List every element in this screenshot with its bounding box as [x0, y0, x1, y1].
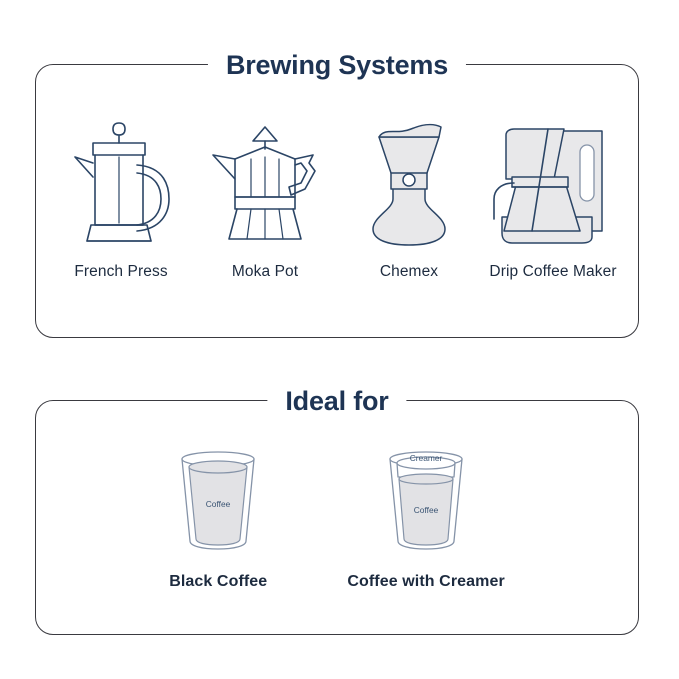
- coffee-cup-icon: Coffee: [172, 439, 264, 551]
- brewing-systems-title: Brewing Systems: [208, 46, 466, 84]
- brewing-systems-card: Brewing Systems: [35, 64, 639, 338]
- infographic-page: Brewing Systems: [0, 0, 679, 679]
- moka-pot-icon: [209, 117, 321, 247]
- brewing-item-label: Chemex: [380, 263, 438, 281]
- ideal-for-card: Ideal for Coffee Black Coffee: [35, 400, 639, 635]
- brewing-item-label: French Press: [74, 263, 167, 281]
- brewing-item-french-press: French Press: [49, 117, 193, 281]
- brewing-item-moka-pot: Moka Pot: [193, 117, 337, 281]
- ideal-item-label: Black Coffee: [169, 573, 267, 591]
- brewing-item-label: Drip Coffee Maker: [489, 263, 616, 281]
- ideal-item-label: Coffee with Creamer: [347, 573, 505, 591]
- brewing-systems-icon-row: French Press: [36, 117, 638, 281]
- ideal-for-title: Ideal for: [267, 382, 406, 420]
- drip-coffee-maker-icon: [492, 117, 614, 247]
- brewing-item-chemex: Chemex: [337, 117, 481, 281]
- chemex-icon: [363, 117, 455, 247]
- ideal-item-coffee-with-creamer: Creamer Coffee Coffee with Creamer: [347, 439, 505, 591]
- cup-creamer-label: Creamer: [410, 453, 443, 463]
- cup-coffee-label: Coffee: [414, 505, 439, 515]
- brewing-item-drip-coffee-maker: Drip Coffee Maker: [481, 117, 625, 281]
- coffee-cup-with-creamer-icon: Creamer Coffee: [380, 439, 472, 551]
- ideal-for-icon-row: Coffee Black Coffee Creamer: [36, 439, 638, 591]
- cup-coffee-label: Coffee: [206, 499, 231, 509]
- brewing-item-label: Moka Pot: [232, 263, 298, 281]
- french-press-icon: [69, 117, 173, 247]
- ideal-item-black-coffee: Coffee Black Coffee: [169, 439, 267, 591]
